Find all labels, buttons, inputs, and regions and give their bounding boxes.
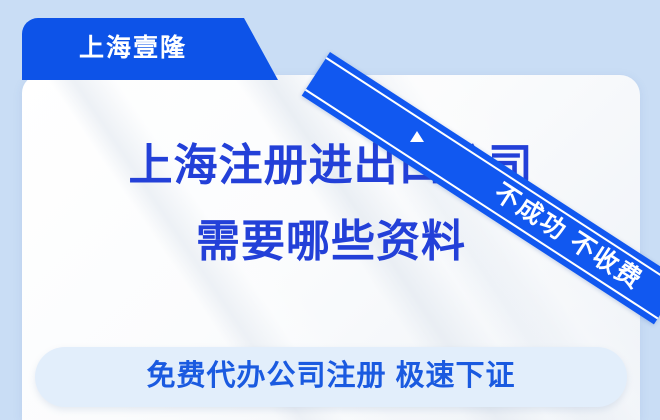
cta-pill[interactable]: 免费代办公司注册 极速下证: [35, 347, 627, 407]
cta-pill-label: 免费代办公司注册 极速下证: [146, 362, 515, 393]
promo-banner: 上海壹隆 上海注册进出口公司 需要哪些资料 免费代办公司注册 极速下证 不成功 …: [0, 0, 660, 420]
brand-tab[interactable]: 上海壹隆: [22, 18, 278, 80]
headline-line-1: 上海注册进出口公司: [22, 139, 640, 193]
triangle-up-icon: [410, 131, 424, 142]
brand-tab-label: 上海壹隆: [79, 36, 187, 63]
brand-tab-inner: 上海壹隆: [22, 18, 244, 80]
